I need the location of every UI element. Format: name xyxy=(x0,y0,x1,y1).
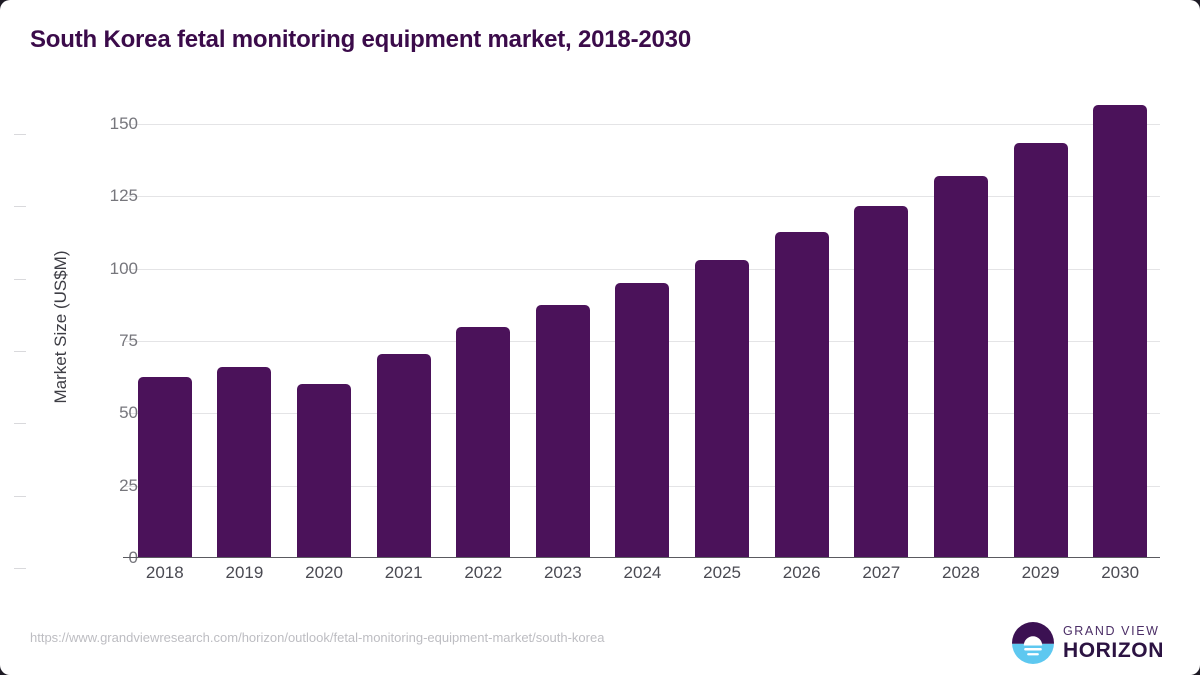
bar-slot xyxy=(443,95,523,558)
bar-2021[interactable] xyxy=(377,354,431,558)
logo-line-grand-view: GRAND VIEW xyxy=(1063,625,1164,638)
logo-wordmark: GRAND VIEW HORIZON xyxy=(1063,625,1164,662)
y-axis-tick-label: 100 xyxy=(28,259,138,279)
y-axis-tick-mark xyxy=(14,351,26,352)
y-axis-tick-label: 25 xyxy=(28,476,138,496)
x-axis-tick-label: 2024 xyxy=(603,563,683,583)
grand-view-horizon-logo[interactable]: GRAND VIEW HORIZON xyxy=(1012,622,1164,664)
chart-card: South Korea fetal monitoring equipment m… xyxy=(0,0,1200,675)
plot-area: 0255075100125150 xyxy=(125,95,1160,558)
bar-2020[interactable] xyxy=(297,384,351,558)
page-title: South Korea fetal monitoring equipment m… xyxy=(30,26,691,54)
bar-slot xyxy=(284,95,364,558)
bar-2019[interactable] xyxy=(217,367,271,558)
x-axis-tick-label: 2018 xyxy=(125,563,205,583)
y-axis-tick-mark xyxy=(14,279,26,280)
x-axis-tick-label: 2020 xyxy=(284,563,364,583)
y-axis-tick-label: 125 xyxy=(28,186,138,206)
bar-slot xyxy=(921,95,1001,558)
bar-slot xyxy=(1080,95,1160,558)
bar-slot xyxy=(603,95,683,558)
bar-2025[interactable] xyxy=(695,260,749,558)
x-axis-tick-label: 2019 xyxy=(205,563,285,583)
bar-slot xyxy=(1001,95,1081,558)
x-axis-line xyxy=(123,557,1160,558)
bar-series xyxy=(125,95,1160,558)
bar-slot xyxy=(841,95,921,558)
bar-2027[interactable] xyxy=(854,206,908,558)
y-axis-tick-label: 0 xyxy=(28,548,138,568)
bar-2022[interactable] xyxy=(456,327,510,559)
x-axis-tick-label: 2028 xyxy=(921,563,1001,583)
y-axis-tick-label: 75 xyxy=(28,331,138,351)
bar-2026[interactable] xyxy=(775,232,829,558)
bar-2030[interactable] xyxy=(1093,105,1147,558)
x-axis-tick-label: 2027 xyxy=(841,563,921,583)
x-axis-tick-label: 2029 xyxy=(1001,563,1081,583)
x-axis-tick-label: 2030 xyxy=(1080,563,1160,583)
x-axis-tick-label: 2025 xyxy=(682,563,762,583)
bar-slot xyxy=(205,95,285,558)
bar-2023[interactable] xyxy=(536,305,590,558)
bar-slot xyxy=(125,95,205,558)
x-axis-ticks: 2018201920202021202220232024202520262027… xyxy=(125,563,1160,583)
bar-2024[interactable] xyxy=(615,283,669,558)
bar-slot xyxy=(364,95,444,558)
bar-2028[interactable] xyxy=(934,176,988,558)
x-axis-tick-label: 2026 xyxy=(762,563,842,583)
x-axis-tick-label: 2021 xyxy=(364,563,444,583)
bar-slot xyxy=(523,95,603,558)
y-axis-tick-label: 50 xyxy=(28,403,138,423)
y-axis-tick-mark xyxy=(14,496,26,497)
y-axis-tick-label: 150 xyxy=(28,114,138,134)
bar-2029[interactable] xyxy=(1014,143,1068,558)
bar-slot xyxy=(682,95,762,558)
x-axis-tick-label: 2023 xyxy=(523,563,603,583)
y-axis-tick-mark xyxy=(14,568,26,569)
logo-line-horizon: HORIZON xyxy=(1063,640,1164,661)
x-axis-tick-label: 2022 xyxy=(443,563,523,583)
horizon-logo-icon xyxy=(1012,622,1054,664)
y-axis-tick-mark xyxy=(14,134,26,135)
y-axis-tick-mark xyxy=(14,423,26,424)
source-url[interactable]: https://www.grandviewresearch.com/horizo… xyxy=(30,630,604,645)
bar-slot xyxy=(762,95,842,558)
y-axis-tick-mark xyxy=(14,206,26,207)
bar-2018[interactable] xyxy=(138,377,192,558)
